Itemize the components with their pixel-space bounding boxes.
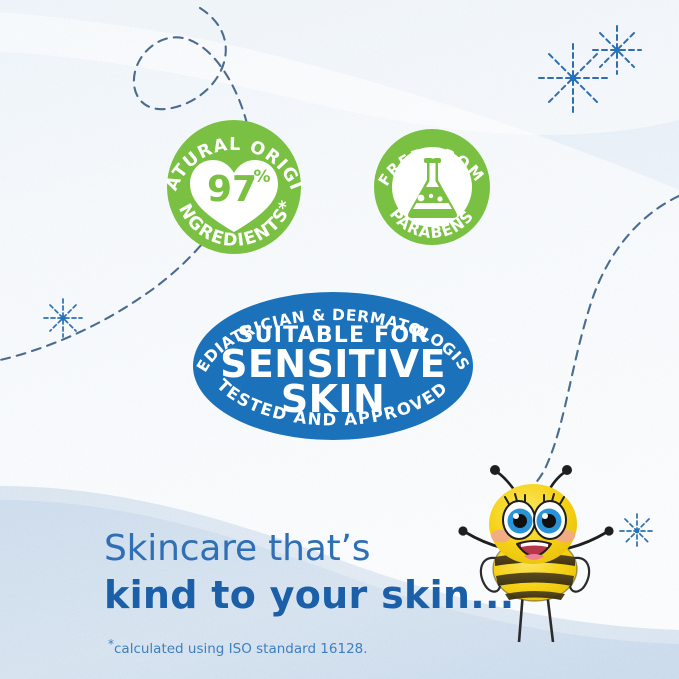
headline-line-1: Skincare that’s (104, 528, 370, 569)
promo-banner: 97 % NATURAL ORIGIN INGREDIENTS* (0, 0, 679, 679)
copy-block: Skincare that’s kind to your skin... *ca… (0, 0, 679, 679)
headline-line-2: kind to your skin... (104, 573, 514, 617)
footnote-text: calculated using ISO standard 16128. (114, 641, 368, 657)
footnote: *calculated using ISO standard 16128. (108, 637, 368, 657)
